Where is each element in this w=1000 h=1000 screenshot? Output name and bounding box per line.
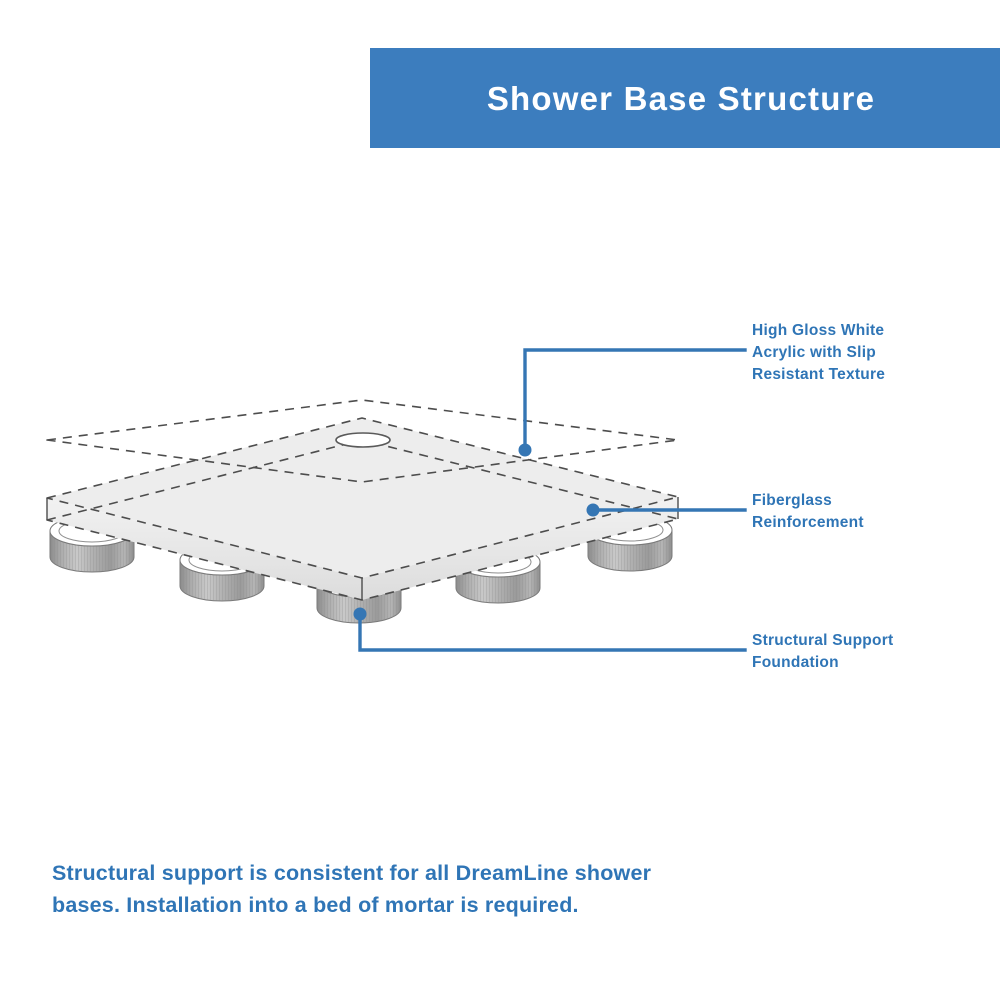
support-ring bbox=[178, 503, 262, 559]
support-ring bbox=[314, 525, 398, 581]
page-title: Shower Base Structure bbox=[487, 82, 883, 115]
fiberglass-reinforcement-layer bbox=[47, 418, 678, 600]
support-ring-array bbox=[50, 503, 672, 623]
leader-line-fiberglass bbox=[587, 504, 746, 517]
leader-dot-fiberglass bbox=[587, 504, 600, 517]
support-ring bbox=[317, 567, 401, 623]
header-banner: Shower Base Structure bbox=[370, 48, 1000, 148]
leader-dot-acrylic bbox=[519, 444, 532, 457]
drain-opening bbox=[336, 433, 390, 447]
leader-line-support bbox=[354, 608, 746, 651]
leader-dot-support bbox=[354, 608, 367, 621]
support-ring bbox=[458, 506, 542, 562]
support-ring bbox=[456, 547, 540, 603]
leader-line-acrylic bbox=[519, 350, 746, 457]
callout-label-acrylic: High Gloss White Acrylic with Slip Resis… bbox=[752, 320, 992, 386]
footer-caption: Structural support is consistent for all… bbox=[52, 858, 692, 921]
page-root: Shower Base Structure bbox=[0, 0, 1000, 1000]
support-ring bbox=[180, 545, 264, 601]
support-ring bbox=[50, 516, 134, 572]
acrylic-top-layer bbox=[47, 397, 678, 487]
callout-label-support: Structural Support Foundation bbox=[752, 630, 992, 674]
support-ring bbox=[588, 515, 672, 571]
callout-label-fiberglass: Fiberglass Reinforcement bbox=[752, 490, 992, 534]
